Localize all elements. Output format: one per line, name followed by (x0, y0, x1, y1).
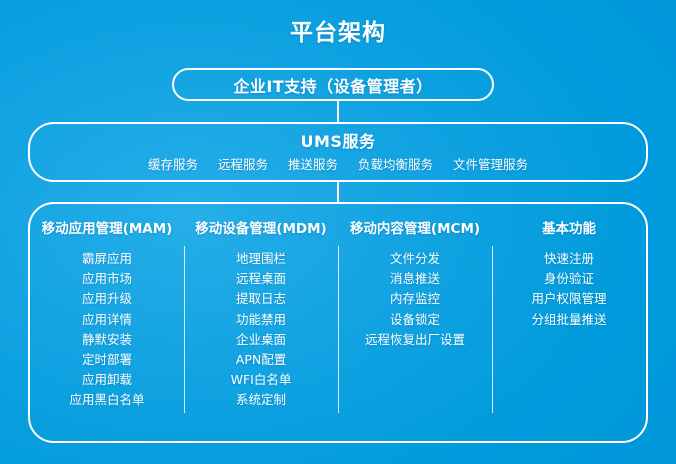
module-item: 应用卸载 (82, 370, 132, 390)
module-column-mcm: 移动内容管理(MCM) 文件分发 消息推送 内存监控 设备锁定 远程恢复出厂设置 (338, 204, 492, 441)
module-title: 移动内容管理(MCM) (350, 220, 480, 238)
module-item: 地理围栏 (236, 249, 286, 269)
module-title: 基本功能 (542, 220, 596, 238)
ums-service-node: UMS服务 缓存服务 远程服务 推送服务 负载均衡服务 文件管理服务 (28, 122, 648, 182)
module-item: 系统定制 (236, 390, 286, 410)
module-item: 设备锁定 (390, 310, 440, 330)
module-title: 移动应用管理(MAM) (42, 220, 173, 238)
module-column-basic: 基本功能 快速注册 身份验证 用户权限管理 分组批量推送 (492, 204, 646, 441)
enterprise-it-label: 企业IT支持（设备管理者） (233, 73, 432, 97)
ums-service-item: 推送服务 (288, 156, 338, 173)
ums-service-list: 缓存服务 远程服务 推送服务 负载均衡服务 文件管理服务 (148, 156, 528, 173)
module-column-mdm: 移动设备管理(MDM) 地理围栏 远程桌面 提取日志 功能禁用 企业桌面 APN… (184, 204, 338, 441)
module-item: 应用详情 (82, 310, 132, 330)
ums-service-item: 文件管理服务 (453, 156, 528, 173)
module-item: 霸屏应用 (82, 249, 132, 269)
module-item: 企业桌面 (236, 330, 286, 350)
module-item: 远程桌面 (236, 269, 286, 289)
module-item: 文件分发 (390, 249, 440, 269)
ums-service-item: 负载均衡服务 (358, 156, 433, 173)
connector-line-top (337, 100, 339, 123)
module-item: 消息推送 (390, 269, 440, 289)
module-item: 应用黑白名单 (69, 390, 144, 410)
module-item: 应用升级 (82, 289, 132, 309)
ums-service-item: 缓存服务 (148, 156, 198, 173)
module-item: APN配置 (236, 350, 286, 370)
module-item: WFI白名单 (231, 370, 292, 390)
enterprise-it-node: 企业IT支持（设备管理者） (172, 68, 494, 101)
modules-panel: 移动应用管理(MAM) 霸屏应用 应用市场 应用升级 应用详情 静默安装 定时部… (28, 202, 648, 443)
ums-service-item: 远程服务 (218, 156, 268, 173)
module-item: 内存监控 (390, 289, 440, 309)
module-item: 用户权限管理 (531, 289, 606, 309)
module-item: 静默安装 (82, 330, 132, 350)
ums-service-label: UMS服务 (301, 132, 376, 152)
module-item: 功能禁用 (236, 310, 286, 330)
architecture-diagram: 平台架构 企业IT支持（设备管理者） UMS服务 缓存服务 远程服务 推送服务 … (0, 0, 676, 464)
connector-line-middle (337, 182, 339, 202)
module-item: 远程恢复出厂设置 (365, 330, 465, 350)
module-item: 身份验证 (544, 269, 594, 289)
module-item: 快速注册 (544, 249, 594, 269)
module-item: 定时部署 (82, 350, 132, 370)
module-column-mam: 移动应用管理(MAM) 霸屏应用 应用市场 应用升级 应用详情 静默安装 定时部… (30, 204, 184, 441)
module-item: 提取日志 (236, 289, 286, 309)
module-title: 移动设备管理(MDM) (195, 220, 326, 238)
modules-grid: 移动应用管理(MAM) 霸屏应用 应用市场 应用升级 应用详情 静默安装 定时部… (30, 204, 646, 441)
module-item: 应用市场 (82, 269, 132, 289)
module-item: 分组批量推送 (531, 310, 606, 330)
page-title: 平台架构 (0, 18, 676, 48)
